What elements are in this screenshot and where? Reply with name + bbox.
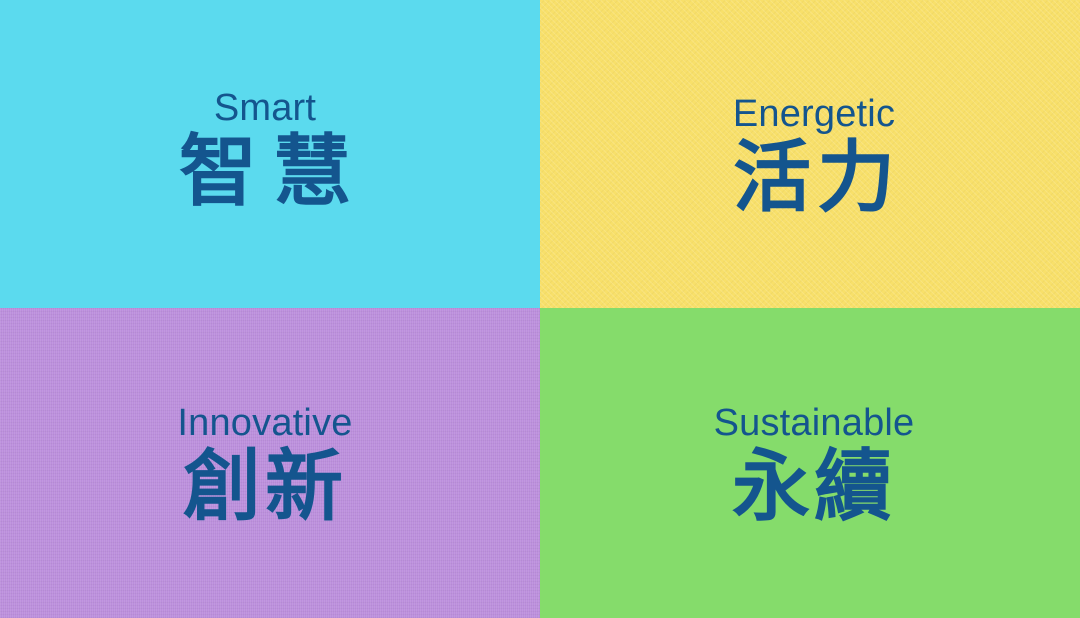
- label-stack-energetic: Energetic 活力: [727, 95, 901, 217]
- quadrant-innovative: Innovative 創新: [0, 308, 540, 618]
- quadrant-sustainable: Sustainable 永續: [540, 308, 1080, 618]
- quadrant-smart: Smart 智慧: [0, 0, 540, 308]
- brand-values-grid: Smart 智慧 Energetic 活力 Innovative 創新 Sust…: [0, 0, 1080, 618]
- label-zh-energetic: 活力: [727, 139, 901, 217]
- label-stack-innovative: Innovative 創新: [177, 404, 352, 526]
- quadrant-energetic: Energetic 活力: [540, 0, 1080, 308]
- label-stack-sustainable: Sustainable 永續: [714, 404, 915, 526]
- label-en-smart: Smart: [214, 89, 316, 127]
- label-en-energetic: Energetic: [733, 95, 895, 133]
- label-en-innovative: Innovative: [177, 404, 352, 442]
- label-zh-innovative: 創新: [183, 448, 347, 526]
- label-en-sustainable: Sustainable: [714, 404, 915, 442]
- label-zh-sustainable: 永續: [732, 448, 896, 526]
- label-stack-smart: Smart 智慧: [163, 89, 367, 211]
- label-zh-smart: 智慧: [163, 133, 367, 211]
